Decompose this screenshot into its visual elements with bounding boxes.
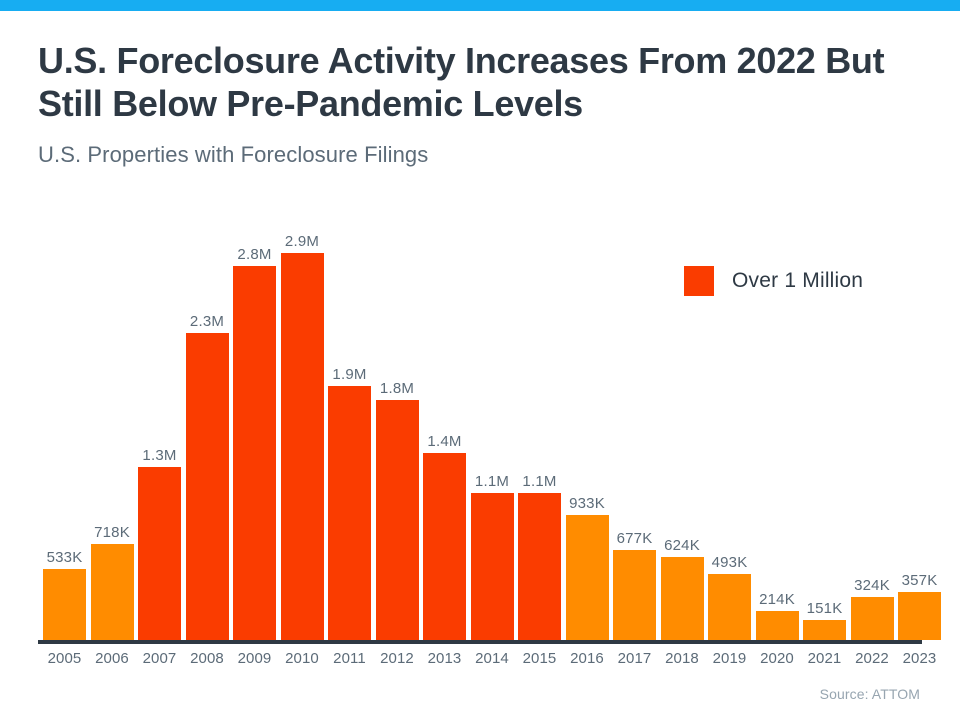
source-note: Source: ATTOM bbox=[820, 686, 920, 702]
bar-column-2009[interactable]: 2.8M bbox=[233, 236, 276, 640]
bar-2021[interactable] bbox=[803, 620, 846, 640]
bar-value-label-2012: 1.8M bbox=[380, 380, 414, 397]
bar-value-label-2015: 1.1M bbox=[522, 473, 556, 490]
bar-value-label-2022: 324K bbox=[854, 577, 890, 594]
x-axis-label-2016: 2016 bbox=[570, 650, 604, 667]
x-axis-label-2005: 2005 bbox=[48, 650, 82, 667]
bar-2007[interactable] bbox=[138, 467, 181, 640]
bar-2019[interactable] bbox=[708, 574, 751, 640]
bar-2014[interactable] bbox=[471, 493, 514, 640]
bar-value-label-2020: 214K bbox=[759, 591, 795, 608]
bar-2009[interactable] bbox=[233, 266, 276, 640]
bar-column-2011[interactable]: 1.9M bbox=[328, 356, 371, 640]
bar-value-label-2009: 2.8M bbox=[237, 246, 271, 263]
bar-column-2021[interactable]: 151K bbox=[803, 590, 846, 640]
x-axis-label-2023: 2023 bbox=[903, 650, 937, 667]
bar-value-label-2018: 624K bbox=[664, 537, 700, 554]
bar-value-label-2008: 2.3M bbox=[190, 313, 224, 330]
bar-value-label-2023: 357K bbox=[902, 572, 938, 589]
x-axis-label-2007: 2007 bbox=[143, 650, 177, 667]
bar-2018[interactable] bbox=[661, 557, 704, 640]
x-axis-label-2015: 2015 bbox=[523, 650, 557, 667]
bar-column-2008[interactable]: 2.3M bbox=[186, 303, 229, 640]
bar-column-2005[interactable]: 533K bbox=[43, 539, 86, 640]
x-axis-line bbox=[38, 640, 922, 644]
bar-column-2015[interactable]: 1.1M bbox=[518, 463, 561, 640]
bar-value-label-2019: 493K bbox=[712, 554, 748, 571]
bar-2012[interactable] bbox=[376, 400, 419, 640]
bar-value-label-2007: 1.3M bbox=[142, 447, 176, 464]
chart-legend: Over 1 Million bbox=[684, 266, 863, 296]
bar-column-2014[interactable]: 1.1M bbox=[471, 463, 514, 640]
x-axis-label-2022: 2022 bbox=[855, 650, 889, 667]
bar-2016[interactable] bbox=[566, 515, 609, 640]
bar-2011[interactable] bbox=[328, 386, 371, 640]
bar-2008[interactable] bbox=[186, 333, 229, 640]
x-axis-label-2020: 2020 bbox=[760, 650, 794, 667]
bar-value-label-2011: 1.9M bbox=[332, 366, 366, 383]
x-axis-label-2019: 2019 bbox=[713, 650, 747, 667]
x-axis-label-2012: 2012 bbox=[380, 650, 414, 667]
bar-value-label-2016: 933K bbox=[569, 495, 605, 512]
x-axis-label-2008: 2008 bbox=[190, 650, 224, 667]
bar-2022[interactable] bbox=[851, 597, 894, 640]
bar-column-2019[interactable]: 493K bbox=[708, 544, 751, 640]
bar-2015[interactable] bbox=[518, 493, 561, 640]
x-axis-label-2011: 2011 bbox=[333, 650, 366, 667]
bar-column-2020[interactable]: 214K bbox=[756, 581, 799, 640]
bar-2005[interactable] bbox=[43, 569, 86, 640]
bar-value-label-2013: 1.4M bbox=[427, 433, 461, 450]
bar-column-2016[interactable]: 933K bbox=[566, 485, 609, 640]
bar-chart-plot-area: 533K718K1.3M2.3M2.8M2.9M1.9M1.8M1.4M1.1M… bbox=[0, 0, 960, 720]
bar-column-2022[interactable]: 324K bbox=[851, 567, 894, 640]
bar-value-label-2005: 533K bbox=[47, 549, 83, 566]
bar-2013[interactable] bbox=[423, 453, 466, 640]
legend-swatch-over-1-million bbox=[684, 266, 714, 296]
bar-column-2007[interactable]: 1.3M bbox=[138, 437, 181, 640]
bar-value-label-2010: 2.9M bbox=[285, 233, 319, 250]
x-axis-label-2010: 2010 bbox=[285, 650, 319, 667]
bar-value-label-2021: 151K bbox=[807, 600, 843, 617]
bar-column-2018[interactable]: 624K bbox=[661, 527, 704, 640]
x-axis-label-2017: 2017 bbox=[618, 650, 652, 667]
bar-2006[interactable] bbox=[91, 544, 134, 640]
x-axis-label-2021: 2021 bbox=[808, 650, 842, 667]
bar-value-label-2017: 677K bbox=[617, 530, 653, 547]
bar-2023[interactable] bbox=[898, 592, 941, 640]
bar-value-label-2014: 1.1M bbox=[475, 473, 509, 490]
bar-column-2006[interactable]: 718K bbox=[91, 514, 134, 640]
bar-2017[interactable] bbox=[613, 550, 656, 640]
bar-column-2017[interactable]: 677K bbox=[613, 520, 656, 640]
x-axis-label-2006: 2006 bbox=[95, 650, 129, 667]
bar-column-2023[interactable]: 357K bbox=[898, 562, 941, 640]
bar-value-label-2006: 718K bbox=[94, 524, 130, 541]
bar-column-2012[interactable]: 1.8M bbox=[376, 370, 419, 640]
x-axis-label-2009: 2009 bbox=[238, 650, 272, 667]
x-axis-label-2018: 2018 bbox=[665, 650, 699, 667]
bar-2020[interactable] bbox=[756, 611, 799, 640]
x-axis-label-2014: 2014 bbox=[475, 650, 509, 667]
x-axis-label-2013: 2013 bbox=[428, 650, 462, 667]
bar-column-2013[interactable]: 1.4M bbox=[423, 423, 466, 640]
bar-column-2010[interactable]: 2.9M bbox=[281, 223, 324, 640]
legend-label-over-1-million: Over 1 Million bbox=[732, 269, 863, 293]
bar-2010[interactable] bbox=[281, 253, 324, 640]
